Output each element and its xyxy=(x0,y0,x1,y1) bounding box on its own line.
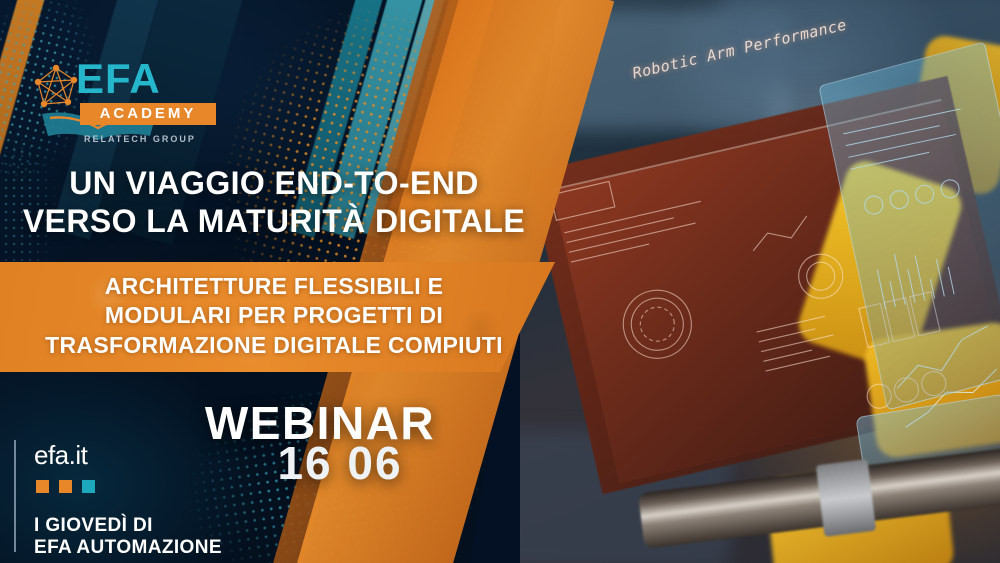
brand-square-2 xyxy=(59,480,72,493)
banner-subtitle: ARCHITETTURE FLESSIBILI E MODULARI PER P… xyxy=(0,272,548,360)
brand-square-1 xyxy=(36,480,49,493)
poster-title: UN VIAGGIO END-TO-END VERSO LA MATURITÀ … xyxy=(0,165,548,241)
webinar-poster: Robotic Arm Performance xyxy=(0,0,1000,563)
title-line-2: VERSO LA MATURITÀ DIGITALE xyxy=(0,203,548,241)
brand-square-3 xyxy=(82,480,95,493)
vertical-divider xyxy=(14,440,16,552)
network-nodes-icon xyxy=(30,62,82,114)
brand-block: efa.it I GIOVEDÌ DI EFA AUTOMAZIONE xyxy=(14,432,264,552)
series-tagline-line-2: EFA AUTOMAZIONE xyxy=(34,536,222,560)
title-line-1: UN VIAGGIO END-TO-END xyxy=(0,165,548,203)
metal-cylinder-band xyxy=(816,459,876,537)
series-tagline-line-1: I GIOVEDÌ DI xyxy=(34,514,153,538)
banner-line-3: TRASFORMAZIONE DIGITALE COMPIUTI xyxy=(0,331,548,360)
banner-line-1: ARCHITETTURE FLESSIBILI E xyxy=(0,272,548,301)
efa-academy-logo[interactable]: EFA ACADEMY RELATECH GROUP xyxy=(30,58,220,153)
banner-line-2: MODULARI PER PROGETTI DI xyxy=(0,301,548,330)
website-label[interactable]: efa.it xyxy=(34,442,87,468)
logo-academy-badge: ACADEMY xyxy=(80,103,216,125)
logo-efa-text: EFA xyxy=(76,58,161,100)
logo-group-text: RELATECH GROUP xyxy=(84,134,196,144)
